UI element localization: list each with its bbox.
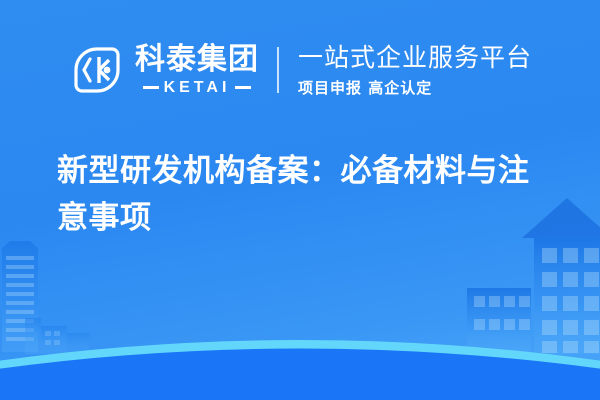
logo-lockup: 科泰集团 KETAI bbox=[68, 41, 277, 99]
building-right-mid-block bbox=[467, 288, 531, 352]
headline-title: 新型研发机构备案：必备材料与注意事项 bbox=[57, 148, 557, 241]
tagline-block: 一站式企业服务平台 项目申报 高企认定 bbox=[279, 45, 532, 96]
banner-header: 科泰集团 KETAI 一站式企业服务平台 项目申报 高企认定 bbox=[0, 0, 600, 140]
promo-banner: 科泰集团 KETAI 一站式企业服务平台 项目申报 高企认定 新型研发机构备案：… bbox=[0, 0, 600, 400]
logo-chinese-name: 科泰集团 bbox=[135, 45, 259, 75]
tagline-primary: 一站式企业服务平台 bbox=[298, 45, 532, 70]
logo-english-row: KETAI bbox=[143, 80, 252, 96]
logo-dash-left bbox=[143, 86, 159, 89]
tagline-secondary: 项目申报 高企认定 bbox=[298, 81, 532, 96]
brand-block: 科泰集团 KETAI 一站式企业服务平台 项目申报 高企认定 bbox=[68, 41, 532, 99]
logo-wordmark: 科泰集团 KETAI bbox=[135, 45, 259, 96]
ketai-logo-icon bbox=[68, 41, 126, 99]
logo-english-name: KETAI bbox=[164, 80, 231, 96]
logo-dash-right bbox=[235, 86, 251, 89]
building-left-small-block bbox=[25, 318, 67, 354]
